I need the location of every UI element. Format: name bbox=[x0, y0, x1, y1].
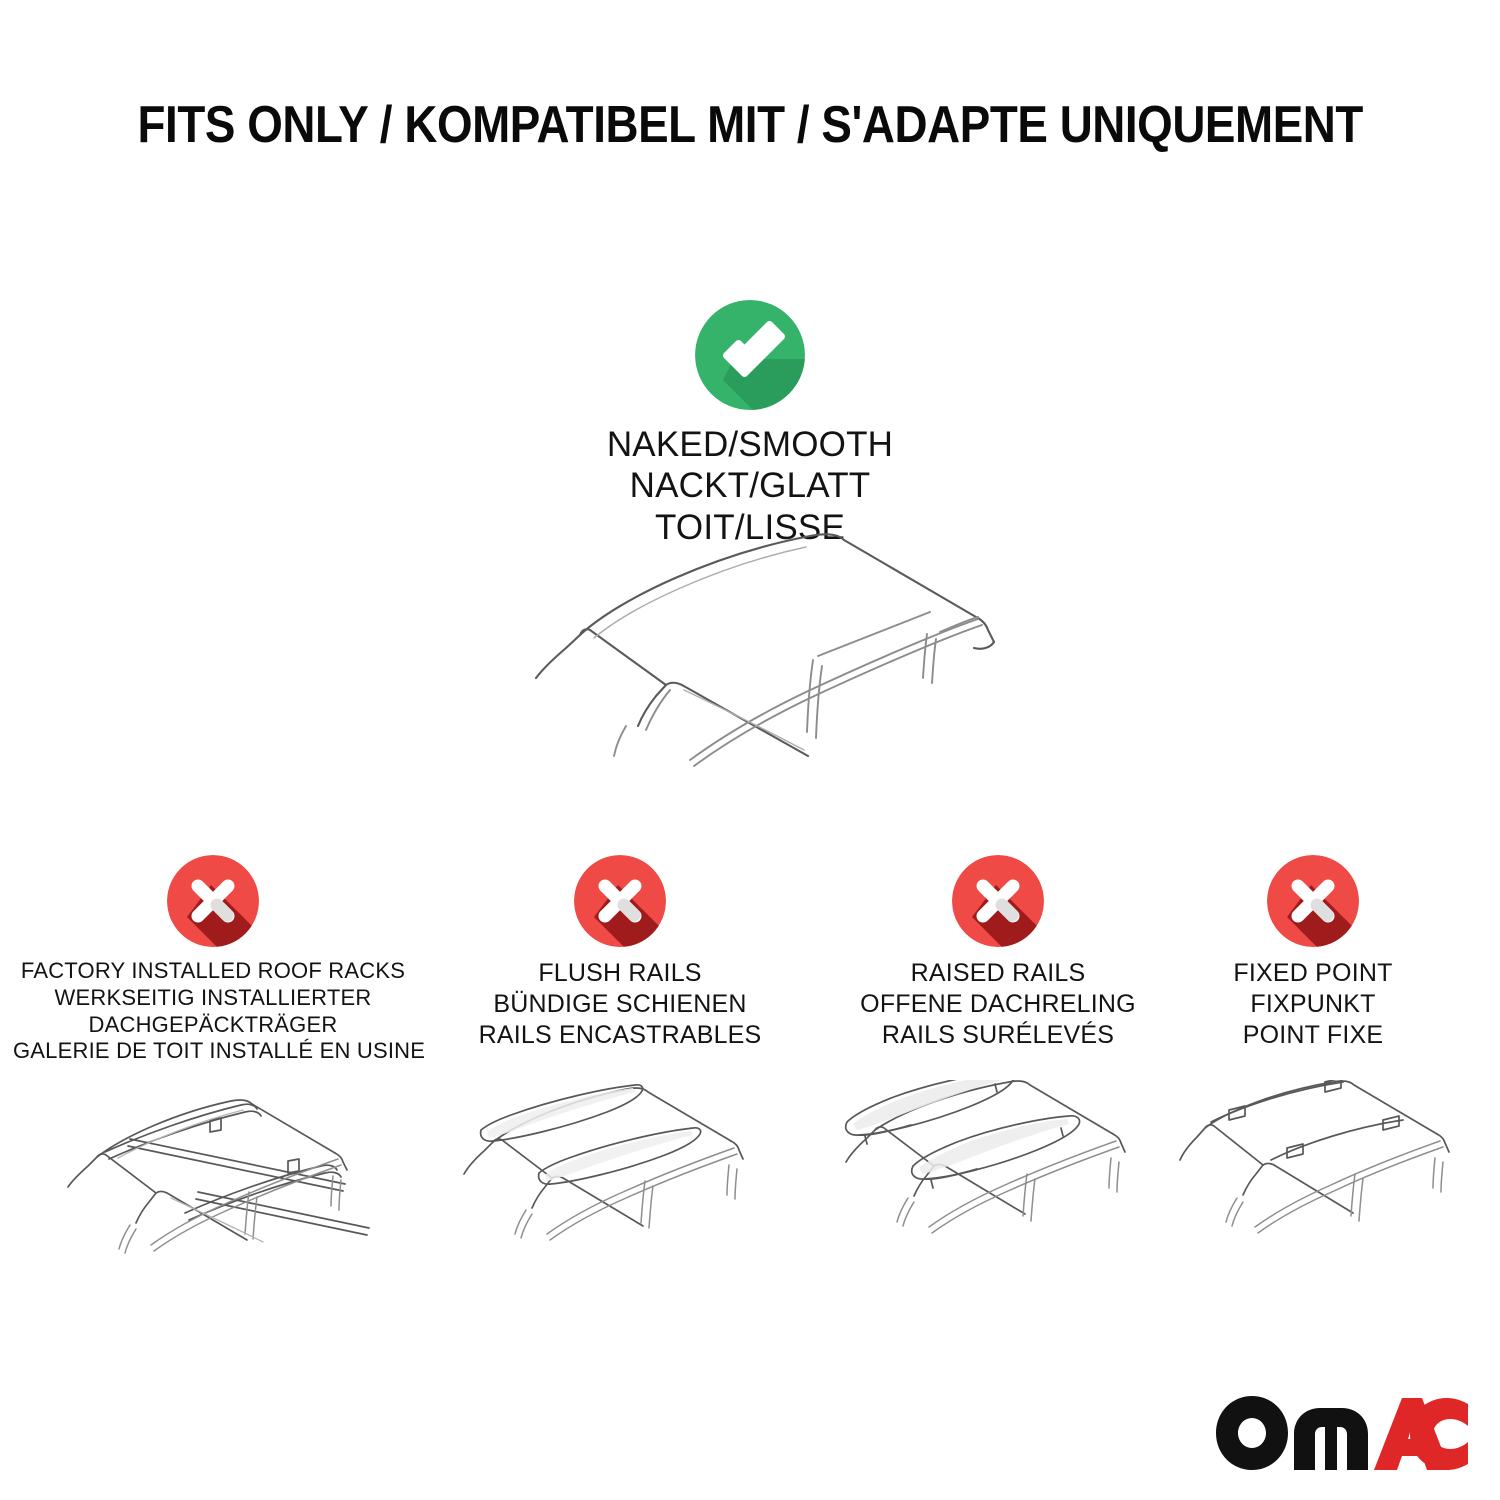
label-line-1: RAISED RAILS bbox=[798, 958, 1198, 989]
label-line-1: FLUSH RAILS bbox=[420, 958, 820, 989]
compatible-section: NAKED/SMOOTH NACKT/GLATT TOIT/LISSE bbox=[0, 300, 1500, 548]
x-circle-icon bbox=[167, 855, 259, 947]
label-line-3: RAILS SURÉLEVÉS bbox=[798, 1020, 1198, 1051]
omac-logo-letter-o bbox=[1216, 1396, 1288, 1470]
compatible-label-line-1: NAKED/SMOOTH bbox=[0, 424, 1500, 465]
label-line-2: WERKSEITIG INSTALLIERTER bbox=[13, 985, 413, 1012]
page-title: FITS ONLY / KOMPATIBEL MIT / S'ADAPTE UN… bbox=[137, 98, 1362, 153]
x-circle-icon bbox=[574, 855, 666, 947]
not-compatible-label: FLUSH RAILS BÜNDIGE SCHIENEN RAILS ENCAS… bbox=[420, 958, 820, 1050]
not-compatible-item-raised-rails: RAISED RAILS OFFENE DACHRELING RAILS SUR… bbox=[798, 855, 1198, 1050]
header: FITS ONLY / KOMPATIBEL MIT / S'ADAPTE UN… bbox=[0, 98, 1500, 153]
not-compatible-item-factory-installed-roof-racks: FACTORY INSTALLED ROOF RACKS WERKSEITIG … bbox=[13, 855, 413, 1065]
label-line-1: FIXED POINT bbox=[1153, 958, 1473, 989]
fixed-point-illustration bbox=[1175, 1080, 1500, 1280]
naked-smooth-roof-illustration bbox=[470, 520, 1050, 810]
compatible-label-line-2: NACKT/GLATT bbox=[0, 465, 1500, 506]
not-compatible-section: FACTORY INSTALLED ROOF RACKS WERKSEITIG … bbox=[0, 855, 1500, 1285]
omac-logo-name: OMAC bbox=[1216, 1470, 1217, 1471]
not-compatible-item-fixed-point: FIXED POINT FIXPUNKT POINT FIXE bbox=[1153, 855, 1473, 1050]
not-compatible-label: FACTORY INSTALLED ROOF RACKS WERKSEITIG … bbox=[13, 958, 413, 1065]
flush-rails-illustration bbox=[435, 1080, 825, 1280]
label-line-1: FACTORY INSTALLED ROOF RACKS bbox=[13, 958, 413, 985]
raised-rails-illustration bbox=[825, 1080, 1215, 1280]
x-circle-icon bbox=[952, 855, 1044, 947]
label-line-3: POINT FIXE bbox=[1153, 1020, 1473, 1051]
label-line-3: RAILS ENCASTRABLES bbox=[420, 1020, 820, 1051]
label-line-2: OFFENE DACHRELING bbox=[798, 989, 1198, 1020]
check-circle-icon bbox=[695, 300, 805, 410]
label-line-4: GALERIE DE TOIT INSTALLÉ EN USINE bbox=[13, 1038, 413, 1065]
label-line-2: FIXPUNKT bbox=[1153, 989, 1473, 1020]
label-line-2: BÜNDIGE SCHIENEN bbox=[420, 989, 820, 1020]
label-line-3: DACHGEPÄCKTRÄGER bbox=[13, 1012, 413, 1039]
not-compatible-label: FIXED POINT FIXPUNKT POINT FIXE bbox=[1153, 958, 1473, 1050]
factory-roof-rack-illustration bbox=[35, 1080, 425, 1280]
not-compatible-item-flush-rails: FLUSH RAILS BÜNDIGE SCHIENEN RAILS ENCAS… bbox=[420, 855, 820, 1050]
omac-logo-letter-m bbox=[1294, 1408, 1368, 1470]
x-circle-icon bbox=[1267, 855, 1359, 947]
not-compatible-label: RAISED RAILS OFFENE DACHRELING RAILS SUR… bbox=[798, 958, 1198, 1050]
omac-logo: OMAC bbox=[1216, 1396, 1468, 1470]
